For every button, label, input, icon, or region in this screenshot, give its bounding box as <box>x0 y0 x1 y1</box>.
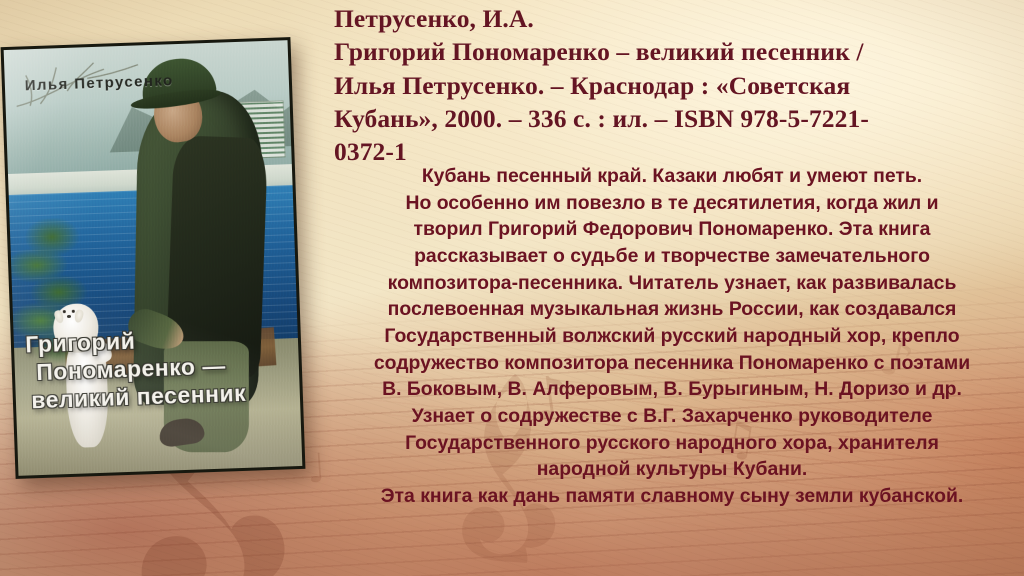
body-line-13: Эта книга как дань памяти славному сыну … <box>320 483 1024 510</box>
cover-dog-nose <box>66 315 71 318</box>
presentation-slide: ♪ ♫ ♩ ♪ <box>0 0 1024 576</box>
book-cover-photo[interactable]: Илья Петрусенко Григорий Пономаренко — в… <box>1 37 306 479</box>
cover-dog-eye-right <box>72 310 75 314</box>
body-line-2: Но особенно им повезло в те десятилетия,… <box>320 190 1024 217</box>
body-line-6: послевоенная музыкальная жизнь России, к… <box>320 296 1024 323</box>
heading-line-2: Григорий Пономаренко – великий песенник … <box>334 35 1024 68</box>
body-line-8: содружество композитора песенника Понома… <box>320 350 1024 377</box>
book-cover-frame: Илья Петрусенко Григорий Пономаренко — в… <box>1 37 306 479</box>
body-line-7: Государственный волжский русский народны… <box>320 323 1024 350</box>
body-line-4: рассказывает о судьбе и творчестве замеч… <box>320 243 1024 270</box>
cover-dog-ear-right <box>74 308 84 322</box>
body-line-11: Государственного русского народного хора… <box>320 430 1024 457</box>
heading-line-3: Илья Петрусенко. – Краснодар : «Советска… <box>334 69 1024 102</box>
body-line-9: В. Боковым, В. Алферовым, В. Бурыгиным, … <box>320 376 1024 403</box>
bibliographic-heading: Петрусенко, И.А. Григорий Пономаренко – … <box>334 2 1024 168</box>
body-line-5: композитора-песенника. Читатель узнает, … <box>320 270 1024 297</box>
annotation-body-text: Кубань песенный край. Казаки любят и уме… <box>320 163 1024 510</box>
body-line-10: Узнает о содружестве с В.Г. Захарченко р… <box>320 403 1024 430</box>
book-cover-title: Григорий Пономаренко — великий песенник <box>25 321 295 414</box>
body-line-1: Кубань песенный край. Казаки любят и уме… <box>320 163 1024 190</box>
body-line-12: народной культуры Кубани. <box>320 456 1024 483</box>
heading-line-4: Кубань», 2000. – 336 с. : ил. – ISBN 978… <box>334 102 1024 135</box>
body-line-3: творил Григорий Федорович Пономаренко. Э… <box>320 216 1024 243</box>
text-column: Петрусенко, И.А. Григорий Пономаренко – … <box>318 0 1024 576</box>
cover-dog-eye-left <box>63 310 66 314</box>
heading-line-1: Петрусенко, И.А. <box>334 2 1024 35</box>
